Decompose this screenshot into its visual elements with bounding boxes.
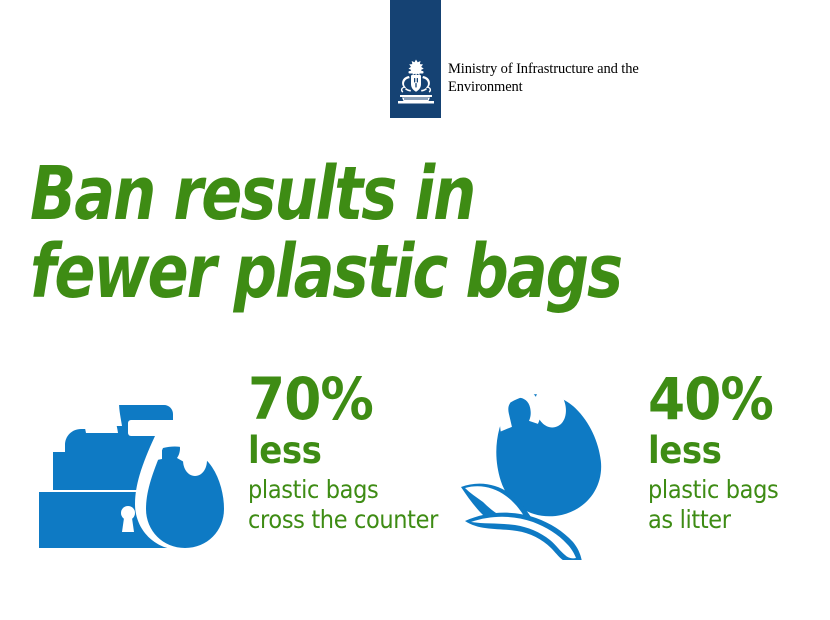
headline-line-1: Ban results in [30, 155, 588, 233]
cash-register-with-bag-icon [35, 370, 240, 555]
ministry-name-line2: Environment [448, 79, 523, 95]
ministry-logo-block: Ministry of Infrastructure and the Envir… [390, 0, 680, 120]
stat-qualifier-counter: less [248, 430, 442, 472]
stat-description-counter: plastic bags cross the counter [248, 475, 438, 535]
stat-text-counter: 70% less plastic bags cross the counter [248, 370, 459, 535]
stat-qualifier-litter: less [648, 430, 781, 472]
stat-block-litter: 40% less plastic bags as litter [455, 370, 830, 570]
stat-block-counter: 70% less plastic bags cross the counter [35, 370, 455, 570]
blowing-plastic-bag-litter-icon [455, 370, 650, 560]
stat-desc-line-2: as litter [648, 505, 778, 535]
page-title: Ban results in fewer plastic bags [30, 155, 588, 311]
stat-percent-litter: 40% [648, 370, 781, 428]
dutch-coat-of-arms-icon [394, 58, 438, 106]
ministry-name-line1: Ministry of Infrastructure and the [448, 61, 639, 77]
stat-description-litter: plastic bags as litter [648, 475, 778, 535]
stat-text-litter: 40% less plastic bags as litter [648, 370, 793, 535]
stat-desc-line-2: cross the counter [248, 505, 438, 535]
stat-desc-line-1: plastic bags [248, 475, 438, 505]
stat-percent-counter: 70% [248, 370, 442, 428]
stat-desc-line-1: plastic bags [648, 475, 778, 505]
headline-line-2: fewer plastic bags [30, 233, 588, 311]
ministry-name: Ministry of Infrastructure and the Envir… [448, 60, 678, 96]
